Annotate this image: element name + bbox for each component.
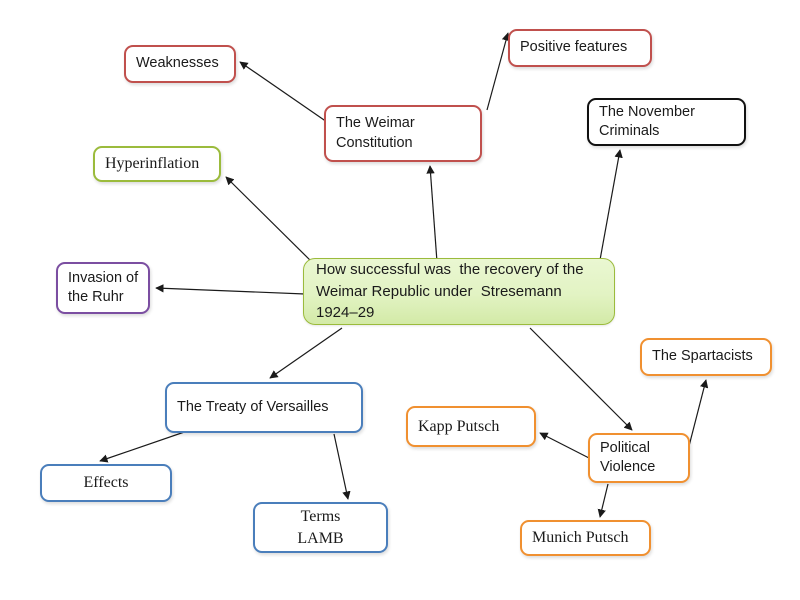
node-weimar-constitution-line: Constitution — [336, 134, 413, 153]
node-terms-lamb-line: Terms — [301, 506, 341, 527]
node-invasion-of-the-ruhr[interactable]: Invasion ofthe Ruhr — [56, 262, 150, 314]
node-hyperinflation[interactable]: Hyperinflation — [93, 146, 221, 182]
node-treaty-of-versailles-line: The Treaty of Versailles — [177, 398, 329, 417]
node-kapp-putsch-line: Kapp Putsch — [418, 416, 499, 437]
node-munich-putsch-line: Munich Putsch — [532, 527, 628, 548]
node-invasion-of-the-ruhr-line: the Ruhr — [68, 288, 124, 307]
node-weaknesses[interactable]: Weaknesses — [124, 45, 236, 83]
node-kapp-putsch[interactable]: Kapp Putsch — [406, 406, 536, 447]
node-november-criminals[interactable]: The NovemberCriminals — [587, 98, 746, 146]
edge-central-to-invasion-of-the-ruhr — [156, 288, 305, 294]
node-central[interactable]: How successful was the recovery of theWe… — [303, 258, 615, 325]
node-central-line: Weimar Republic under Stresemann — [316, 281, 562, 303]
node-weaknesses-line: Weaknesses — [136, 54, 219, 73]
node-positive-features-line: Positive features — [520, 38, 627, 57]
edge-political-violence-to-kapp-putsch — [540, 433, 589, 458]
node-effects-line: Effects — [83, 472, 128, 493]
node-hyperinflation-line: Hyperinflation — [105, 153, 199, 174]
node-political-violence-line: Violence — [600, 458, 655, 477]
node-the-spartacists-line: The Spartacists — [652, 347, 753, 366]
edge-weimar-constitution-to-weaknesses — [240, 62, 327, 122]
edge-central-to-hyperinflation — [226, 177, 318, 268]
node-central-line: How successful was the recovery of the — [316, 259, 584, 281]
edge-central-to-political-violence — [530, 328, 632, 430]
edge-political-violence-to-munich-putsch — [600, 484, 608, 517]
node-terms-lamb-line: LAMB — [297, 528, 343, 549]
edge-political-violence-to-the-spartacists — [688, 380, 706, 450]
node-invasion-of-the-ruhr-line: Invasion of — [68, 269, 138, 288]
edge-central-to-november-criminals — [600, 150, 620, 260]
node-effects[interactable]: Effects — [40, 464, 172, 502]
mind-map-canvas: How successful was the recovery of theWe… — [0, 0, 800, 600]
node-november-criminals-line: Criminals — [599, 122, 659, 141]
edge-central-to-weimar-constitution — [430, 166, 437, 262]
node-weimar-constitution[interactable]: The WeimarConstitution — [324, 105, 482, 162]
edge-weimar-constitution-to-positive-features — [487, 33, 508, 110]
node-the-spartacists[interactable]: The Spartacists — [640, 338, 772, 376]
edge-treaty-of-versailles-to-terms-lamb — [334, 434, 348, 499]
node-political-violence[interactable]: PoliticalViolence — [588, 433, 690, 483]
node-treaty-of-versailles[interactable]: The Treaty of Versailles — [165, 382, 363, 433]
node-terms-lamb[interactable]: TermsLAMB — [253, 502, 388, 553]
node-munich-putsch[interactable]: Munich Putsch — [520, 520, 651, 556]
node-positive-features[interactable]: Positive features — [508, 29, 652, 67]
node-november-criminals-line: The November — [599, 103, 695, 122]
edge-central-to-treaty-of-versailles — [270, 328, 342, 378]
node-weimar-constitution-line: The Weimar — [336, 114, 415, 133]
node-central-line: 1924–29 — [316, 302, 374, 324]
node-political-violence-line: Political — [600, 439, 650, 458]
